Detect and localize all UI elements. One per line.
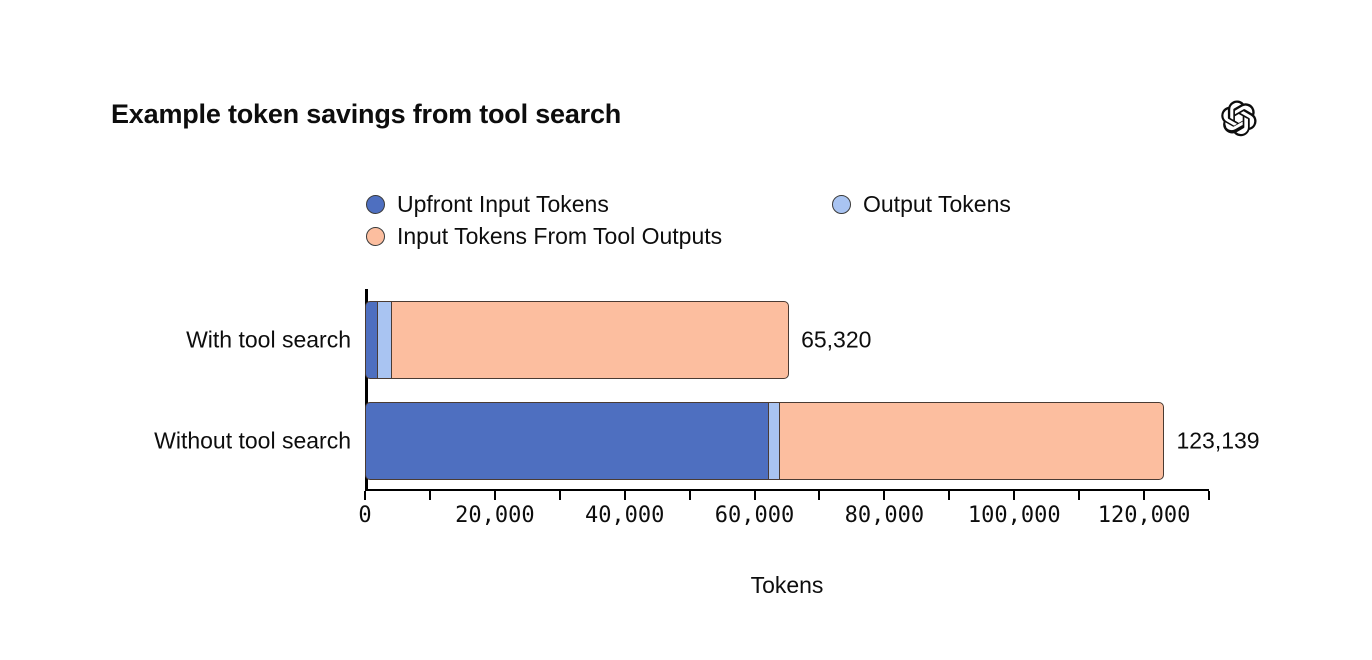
legend-swatch-icon — [832, 195, 851, 214]
x-axis-tick-mark — [689, 491, 691, 500]
y-axis-tick-label: With tool search — [111, 326, 365, 353]
bar-segment[interactable] — [365, 402, 769, 480]
legend-swatch-icon — [366, 227, 385, 246]
openai-logo — [1221, 98, 1261, 138]
x-axis-tick-mark — [1078, 491, 1080, 500]
x-axis-tick-mark — [429, 491, 431, 500]
bar-segment[interactable] — [391, 301, 789, 379]
x-axis-tick-mark — [1208, 491, 1210, 500]
legend-item-label: Upfront Input Tokens — [397, 193, 609, 216]
x-axis-tick-mark — [818, 491, 820, 500]
x-axis-tick-mark — [364, 491, 366, 500]
x-axis-title: Tokens — [365, 572, 1209, 599]
x-axis-tick-label: 0 — [358, 503, 371, 528]
x-axis-tick-mark — [754, 491, 756, 500]
legend-item-label: Input Tokens From Tool Outputs — [397, 225, 722, 248]
bar-segment[interactable] — [779, 402, 1164, 480]
x-axis-tick-mark — [1013, 491, 1015, 500]
x-axis-tick-mark — [948, 491, 950, 500]
x-axis-tick-mark — [559, 491, 561, 500]
legend-swatch-icon — [366, 195, 385, 214]
x-axis-tick-label: 100,000 — [968, 503, 1061, 528]
bar-group[interactable] — [365, 402, 1164, 480]
legend-item-output-tokens[interactable]: Output Tokens — [832, 193, 1011, 216]
y-axis-tick-label: Without tool search — [111, 427, 365, 454]
x-axis-tick-mark — [883, 491, 885, 500]
x-axis-tick-label: 120,000 — [1098, 503, 1191, 528]
x-axis-tick-label: 40,000 — [585, 503, 664, 528]
chart-plot-area: With tool search65,320Without tool searc… — [365, 289, 1209, 491]
legend-item-input-tokens-from-tool-outputs[interactable]: Input Tokens From Tool Outputs — [366, 225, 722, 248]
chart-legend: Upfront Input Tokens Output Tokens Input… — [366, 190, 1126, 258]
legend-item-label: Output Tokens — [863, 193, 1011, 216]
x-axis-tick-label: 60,000 — [715, 503, 794, 528]
x-axis-tick-label: 20,000 — [455, 503, 534, 528]
x-axis-tick-mark — [1143, 491, 1145, 500]
bar-group[interactable] — [365, 301, 789, 379]
x-axis-tick-label: 80,000 — [845, 503, 924, 528]
bar-total-label: 65,320 — [801, 326, 871, 353]
x-axis-spine — [365, 489, 1209, 492]
x-axis-tick-mark — [494, 491, 496, 500]
x-axis-tick-mark — [624, 491, 626, 500]
bar-total-label: 123,139 — [1176, 427, 1259, 454]
page-title: Example token savings from tool search — [111, 99, 621, 130]
legend-item-upfront-input-tokens[interactable]: Upfront Input Tokens — [366, 193, 609, 216]
